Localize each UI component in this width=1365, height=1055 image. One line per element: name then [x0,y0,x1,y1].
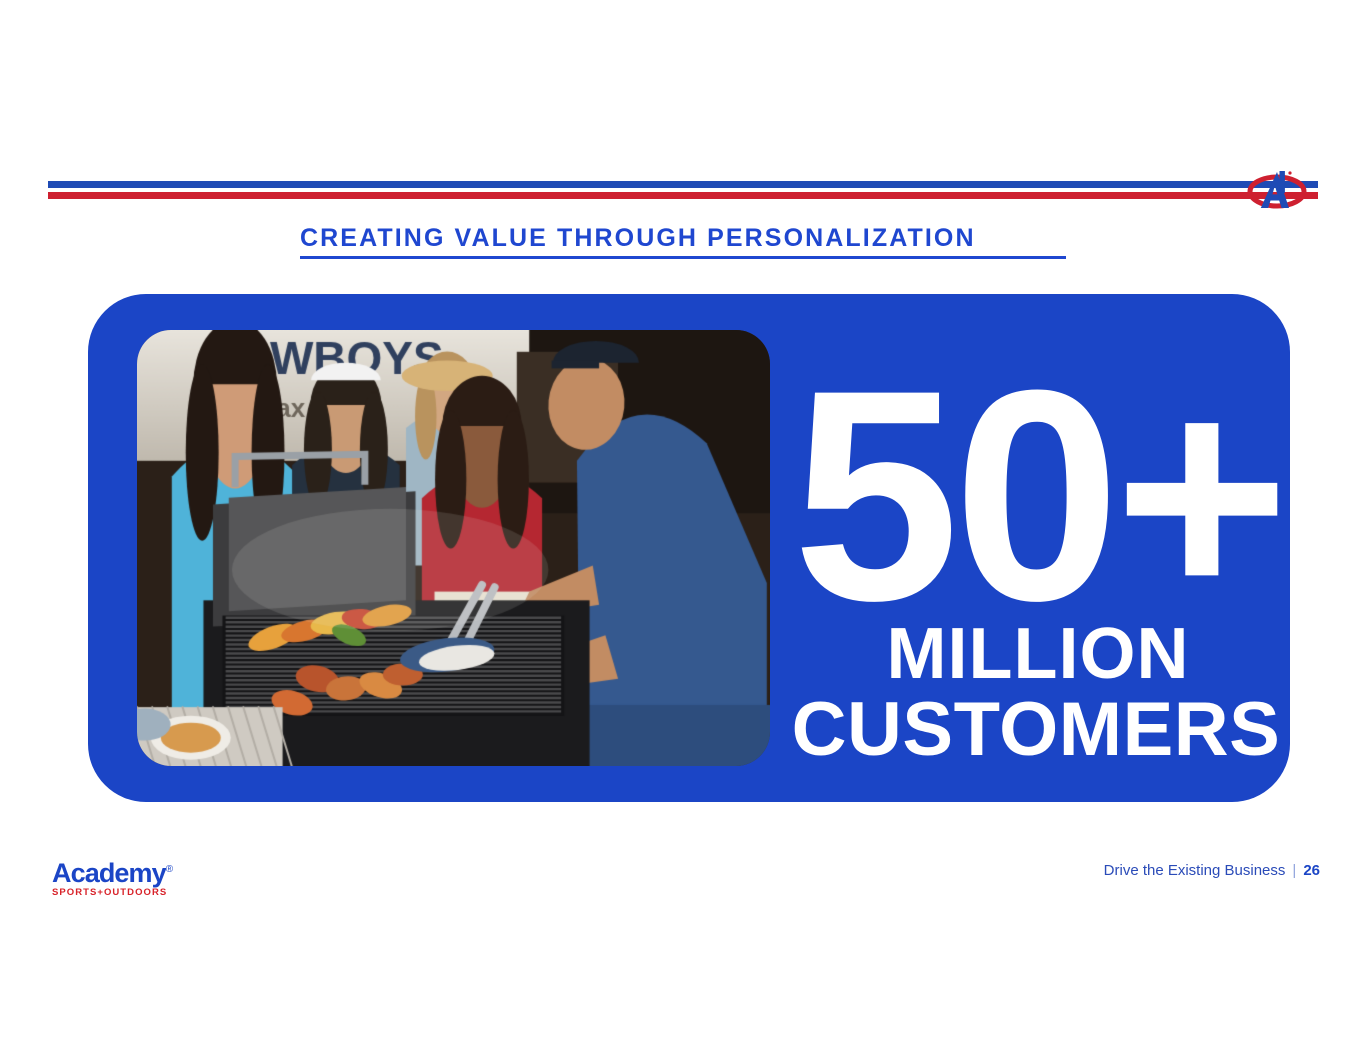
academy-footer-logo: Academy® SPORTS+OUTDOORS [52,857,178,893]
stat-number: 50+ [788,380,1288,610]
page-title: CREATING VALUE THROUGH PERSONALIZATION [300,224,976,253]
academy-a-monogram-icon [1246,167,1308,215]
tailgate-grilling-photo [137,330,770,766]
slide: CREATING VALUE THROUGH PERSONALIZATION 5… [0,0,1365,1055]
registered-trademark-icon: ® [166,864,172,875]
stat-unit-label: MILLION [788,618,1288,690]
academy-wordmark-text: Academy [52,858,166,888]
header-rule [48,180,1318,202]
stat-card: 50+ MILLION CUSTOMERS [88,294,1290,802]
footer-section-label: Drive the Existing Business [1104,862,1286,879]
footer-separator: | [1292,862,1296,879]
academy-sub-wordmark: SPORTS+OUTDOORS [52,887,178,898]
header-stripe-red [48,192,1318,199]
stat-block: 50+ MILLION CUSTOMERS [788,380,1288,780]
header-stripe-blue [48,181,1318,188]
page-title-underline [300,256,1066,259]
page-number: 26 [1303,862,1320,879]
tailgate-grilling-photo-canvas [137,330,770,766]
footer-meta: Drive the Existing Business|26 [1104,862,1320,879]
academy-wordmark: Academy® [52,857,172,886]
stat-subject-label: CUSTOMERS [776,692,1296,768]
